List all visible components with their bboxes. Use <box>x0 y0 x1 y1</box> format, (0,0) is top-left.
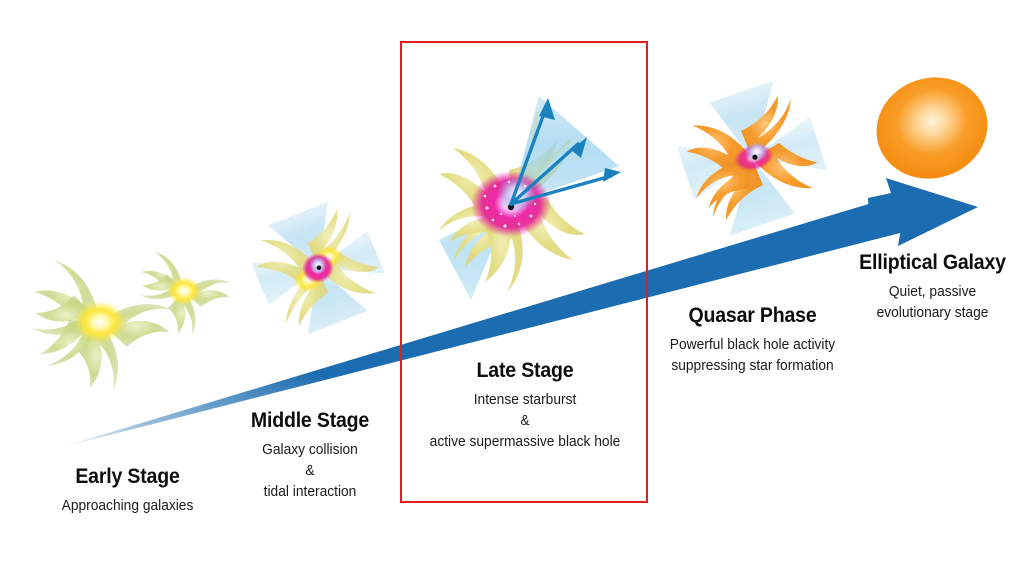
stage-label-middle: Middle Stage Galaxy collision & tidal in… <box>215 410 405 503</box>
stage-label-quasar: Quasar Phase Powerful black hole activit… <box>640 305 865 377</box>
stage-label-elliptical: Elliptical Galaxy Quiet, passive evoluti… <box>840 252 1024 324</box>
stage-caption-late: Intense starburst & active supermassive … <box>425 390 625 453</box>
diagram-canvas: Early Stage Approaching galaxies Middle … <box>0 0 1024 576</box>
stage-label-late: Late Stage Intense starburst & active su… <box>420 360 630 453</box>
stage-title-middle: Middle Stage <box>222 410 399 431</box>
stage-title-quasar: Quasar Phase <box>648 305 857 326</box>
stage-caption-early: Approaching galaxies <box>35 496 220 517</box>
stage-caption-elliptical: Quiet, passive evolutionary stage <box>845 282 1021 324</box>
stage-caption-quasar: Powerful black hole activity suppressing… <box>646 335 860 377</box>
stage-title-elliptical: Elliptical Galaxy <box>846 252 1018 273</box>
stage-label-early: Early Stage Approaching galaxies <box>30 466 225 517</box>
stage-caption-middle: Galaxy collision & tidal interaction <box>220 440 401 503</box>
stage-title-late: Late Stage <box>427 360 622 381</box>
stage-title-early: Early Stage <box>37 466 218 487</box>
